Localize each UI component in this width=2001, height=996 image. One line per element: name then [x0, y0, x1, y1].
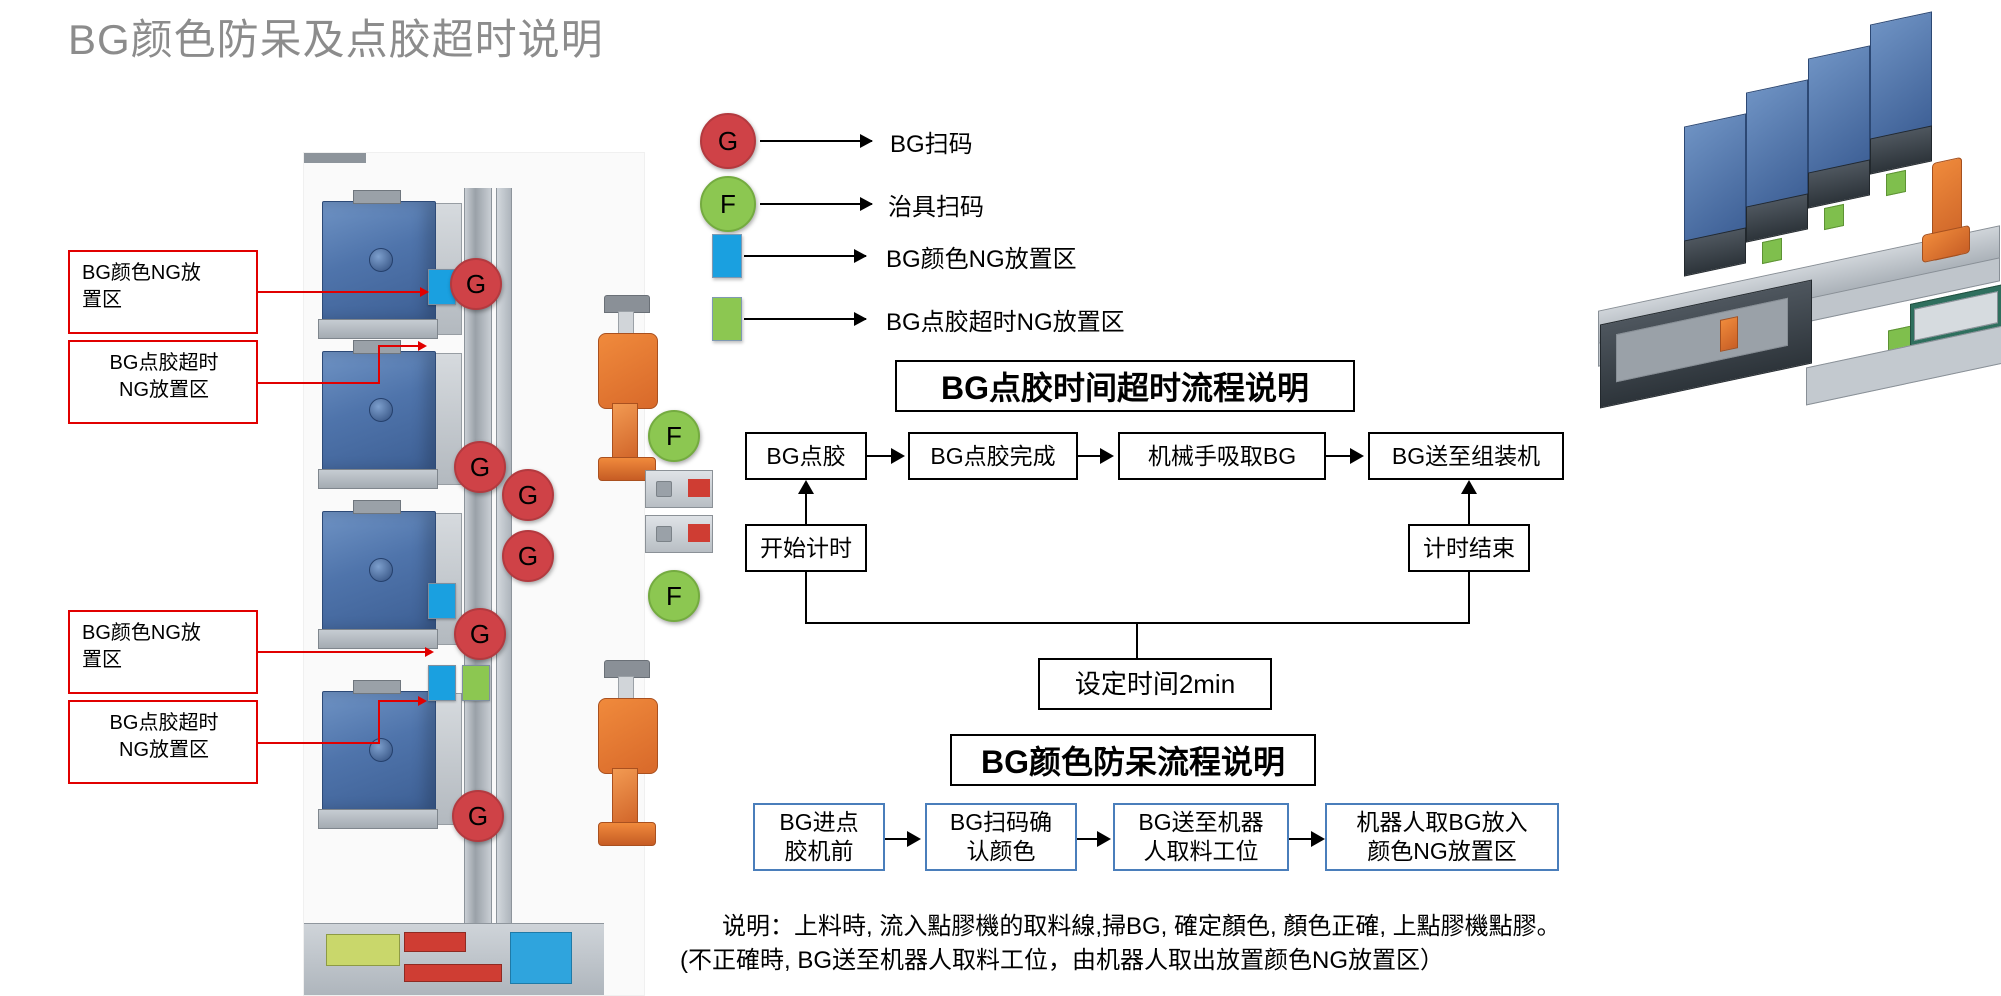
setting-riser — [1136, 622, 1138, 660]
flow-color-step-2-line-1: BG扫码确 — [950, 808, 1052, 837]
console-panel-d — [510, 932, 572, 984]
bottom-note-line-1: 说明：上料時, 流入點膠機的取料線,掃BG, 確定顏色, 顏色正確, 上點膠機點… — [680, 910, 1710, 944]
flow-timeout-connector-1 — [867, 455, 893, 457]
timer-start-arrow-icon — [798, 480, 814, 494]
module-base-3 — [318, 629, 438, 649]
legend-arrow-4-icon — [744, 318, 866, 320]
callout-leader-1 — [258, 291, 423, 293]
callout-bg-dispense-timeout-ng-area-bottom: BG点胶超时 NG放置区 — [68, 700, 258, 784]
legend-color-ng-area-label: BG颜色NG放置区 — [886, 239, 1077, 274]
callout-leader-head-2 — [418, 341, 427, 351]
flow-color-title: BG颜色防呆流程说明 — [950, 734, 1316, 786]
legend-arrow-2-icon — [760, 203, 872, 205]
timer-end-downleg — [1468, 572, 1470, 624]
legend-arrow-3-icon — [744, 255, 866, 257]
flow-timeout-connector-3 — [1326, 455, 1352, 457]
marker-f-1: F — [648, 410, 700, 462]
legend-circle-f-icon: F — [700, 176, 756, 232]
legend-square-blue-icon — [712, 234, 742, 278]
callout-line-1: BG颜色NG放 — [82, 260, 246, 287]
console-panel-c — [404, 964, 502, 982]
dispenser-module-1 — [322, 201, 436, 321]
marker-g-label: G — [518, 480, 538, 511]
legend-fixture-scan: F 治具扫码 — [700, 176, 984, 232]
flow-timeout-timer-end: 计时结束 — [1408, 524, 1530, 572]
flow-timeout-arrow-2-icon — [1100, 448, 1114, 464]
flow-timeout-step-4: BG送至组装机 — [1368, 432, 1564, 480]
module-base-4 — [318, 809, 438, 829]
flow-color-connector-2 — [1077, 838, 1099, 840]
callout-bg-dispense-timeout-ng-area-top: BG点胶超时 NG放置区 — [68, 340, 258, 424]
legend-timeout-ng-area-label: BG点胶超时NG放置区 — [886, 302, 1125, 337]
flow-color-step-3-line-1: BG送至机器 — [1138, 808, 1263, 837]
legend-circle-g-label: G — [718, 126, 738, 157]
timer-start-downleg — [805, 572, 807, 624]
marker-g-label: G — [468, 801, 488, 832]
marker-g-label: G — [466, 269, 486, 300]
legend-circle-f-label: F — [720, 189, 736, 220]
callout-leader-4-top — [378, 700, 422, 702]
bottom-note-line-2: (不正確時, BG送至机器人取料工位，由机器人取出放置颜色NG放置区） — [680, 944, 1710, 978]
callout-leader-4 — [258, 742, 380, 744]
flow-timeout-arrow-3-icon — [1350, 448, 1364, 464]
flow-timeout-timer-start: 开始计时 — [745, 524, 867, 572]
callout-line-2: 置区 — [82, 287, 246, 314]
legend-arrow-1-icon — [760, 140, 872, 142]
flow-color-step-1-line-2: 胶机前 — [785, 837, 854, 866]
callout-line-2: NG放置区 — [82, 377, 246, 404]
module-top-cap-4 — [353, 680, 401, 694]
callout-leader-head-3 — [425, 647, 434, 657]
module-base-2 — [318, 469, 438, 489]
production-line-3d-render — [1570, 0, 2001, 500]
callout-leader-2-riser — [378, 345, 380, 383]
callout-line-1: BG点胶超时 — [82, 350, 246, 377]
legend-bg-scan: G BG扫码 — [700, 113, 973, 169]
fixture-station-2 — [645, 515, 713, 553]
module-top-cap-1 — [353, 190, 401, 204]
flow-color-step-1: BG进点 胶机前 — [753, 803, 885, 871]
page-title: BG颜色防呆及点胶超时说明 — [68, 6, 604, 67]
flow-color-arrow-2-icon — [1097, 831, 1111, 847]
callout-line-2: 置区 — [82, 647, 246, 674]
module-top-cap-3 — [353, 500, 401, 514]
flow-timeout-setting: 设定时间2min — [1038, 658, 1272, 710]
callout-leader-head-4 — [418, 696, 427, 706]
marker-f-label: F — [666, 581, 682, 612]
module-base-1 — [318, 319, 438, 339]
marker-f-2: F — [648, 570, 700, 622]
flow-timeout-step-2: BG点胶完成 — [908, 432, 1078, 480]
flow-timeout-step-3: 机械手吸取BG — [1118, 432, 1326, 480]
callout-leader-2 — [258, 382, 380, 384]
dispenser-module-3 — [322, 511, 436, 631]
flow-color-connector-1 — [885, 838, 909, 840]
marker-g-3: G — [502, 469, 554, 521]
bg-color-ng-chip-2 — [428, 583, 456, 619]
legend-color-ng-area: BG颜色NG放置区 — [712, 234, 1077, 278]
legend-bg-scan-label: BG扫码 — [890, 124, 973, 159]
marker-g-5: G — [454, 608, 506, 660]
flow-color-step-4-line-2: 颜色NG放置区 — [1367, 837, 1517, 866]
callout-leader-2-top — [378, 345, 422, 347]
flow-timeout-connector-2 — [1078, 455, 1102, 457]
callout-bg-color-ng-area-top: BG颜色NG放 置区 — [68, 250, 258, 334]
bg-color-ng-chip-3 — [428, 665, 456, 701]
callout-line-1: BG点胶超时 — [82, 710, 246, 737]
marker-g-6: G — [452, 790, 504, 842]
flow-color-connector-3 — [1289, 838, 1313, 840]
marker-f-label: F — [666, 421, 682, 452]
callout-leader-head-1 — [420, 287, 429, 297]
timer-end-arrow-icon — [1461, 480, 1477, 494]
callout-leader-4-riser — [378, 700, 380, 742]
flow-color-step-3: BG送至机器 人取料工位 — [1113, 803, 1289, 871]
module-top-cap-2 — [353, 340, 401, 354]
flow-color-step-3-line-2: 人取料工位 — [1144, 837, 1259, 866]
flow-color-step-4-line-1: 机器人取BG放入 — [1356, 808, 1527, 837]
legend-timeout-ng-area: BG点胶超时NG放置区 — [712, 297, 1125, 341]
bottom-note: 说明：上料時, 流入點膠機的取料線,掃BG, 確定顏色, 顏色正確, 上點膠機點… — [680, 910, 1710, 978]
flow-timeout-title: BG点胶时间超时流程说明 — [895, 360, 1355, 412]
flow-color-step-4: 机器人取BG放入 颜色NG放置区 — [1325, 803, 1559, 871]
marker-g-2: G — [454, 441, 506, 493]
flow-timeout-step-1: BG点胶 — [745, 432, 867, 480]
callout-line-1: BG颜色NG放 — [82, 620, 246, 647]
legend-square-green-icon — [712, 297, 742, 341]
callout-leader-3 — [258, 651, 428, 653]
callout-line-2: NG放置区 — [82, 737, 246, 764]
marker-g-label: G — [470, 619, 490, 650]
marker-g-1: G — [450, 258, 502, 310]
flow-color-arrow-1-icon — [907, 831, 921, 847]
console-panel-b — [404, 932, 466, 952]
conveyor-top-cap — [304, 153, 366, 163]
flow-color-step-2: BG扫码确 认颜色 — [925, 803, 1077, 871]
legend-fixture-scan-label: 治具扫码 — [888, 187, 984, 222]
marker-g-label: G — [518, 541, 538, 572]
marker-g-4: G — [502, 530, 554, 582]
operator-console — [304, 923, 604, 996]
flow-timeout-arrow-1-icon — [891, 448, 905, 464]
flow-color-step-2-line-2: 认颜色 — [967, 837, 1036, 866]
bg-timeout-ng-chip-2 — [462, 665, 490, 701]
flow-color-arrow-3-icon — [1311, 831, 1325, 847]
flow-color-step-1-line-1: BG进点 — [779, 808, 858, 837]
console-panel-a — [326, 934, 400, 966]
callout-bg-color-ng-area-bottom: BG颜色NG放 置区 — [68, 610, 258, 694]
legend-circle-g-icon: G — [700, 113, 756, 169]
fixture-station-1 — [645, 470, 713, 508]
marker-g-label: G — [470, 452, 490, 483]
